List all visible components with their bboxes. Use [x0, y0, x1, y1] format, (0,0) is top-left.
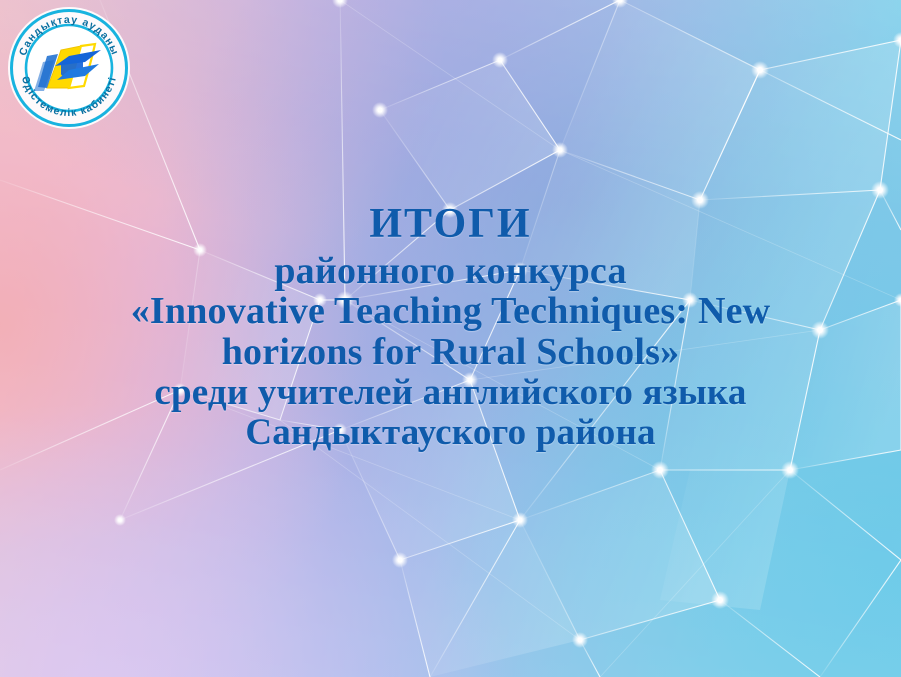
slide-title-block: ИТОГИ районного конкурса «Innovative Tea…: [0, 203, 901, 452]
audience-line-2: Сандыктауского района: [28, 414, 873, 452]
contest-name-line-1: «Innovative Teaching Techniques: New: [28, 292, 873, 331]
audience-line-1: среди учителей английского языка: [28, 374, 873, 412]
presentation-slide: Сандықтау ауданы Әдістемелік кабинеті ИТ…: [0, 0, 901, 677]
contest-name-line-2: horizons for Rural Schools»: [28, 333, 873, 372]
slide-subject-line: районного конкурса: [28, 252, 873, 291]
sandyktau-methodical-office-logo: Сандықтау ауданы Әдістемелік кабинеті: [7, 6, 131, 130]
slide-heading: ИТОГИ: [28, 203, 873, 246]
